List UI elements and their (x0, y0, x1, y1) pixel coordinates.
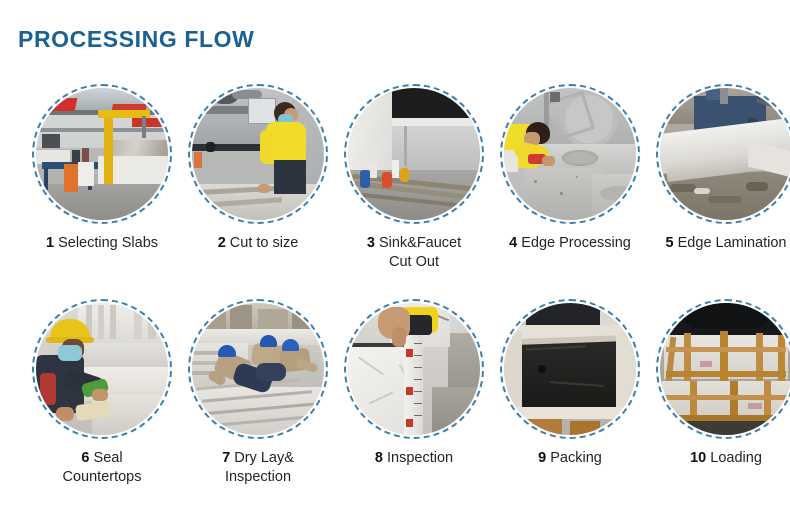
photo-cut-to-size (192, 88, 324, 220)
photo-sink-faucet-cut-out (348, 88, 480, 220)
step-7-label-line2: Inspection (174, 468, 342, 487)
photo-seal-countertops (36, 303, 168, 435)
step-10-label: Loading (710, 450, 762, 466)
step-7-label: Dry Lay& (234, 450, 294, 466)
page-title: PROCESSING FLOW (18, 26, 254, 53)
step-9-label: Packing (550, 450, 602, 466)
process-step-1[interactable]: 1 Selecting Slabs (24, 84, 180, 272)
step-6-number: 6 (81, 450, 89, 466)
step-3-number: 3 (367, 235, 375, 251)
process-step-8[interactable]: 8 Inspection (336, 299, 492, 487)
step-9-number: 9 (538, 450, 546, 466)
step-9-circle[interactable] (500, 299, 640, 439)
step-5-number: 5 (666, 235, 674, 251)
process-step-2[interactable]: 2 Cut to size (180, 84, 336, 272)
step-6-circle[interactable] (32, 299, 172, 439)
process-row-1: 1 Selecting Slabs (0, 84, 790, 272)
process-step-5[interactable]: 5 Edge Lamination (648, 84, 790, 272)
step-1-number: 1 (46, 235, 54, 251)
process-step-10[interactable]: 10 Loading (648, 299, 790, 487)
photo-packing (504, 303, 636, 435)
step-4-circle[interactable] (500, 84, 640, 224)
step-10-caption: 10 Loading (642, 449, 790, 468)
step-7-circle[interactable] (188, 299, 328, 439)
step-1-label: Selecting Slabs (58, 235, 158, 251)
process-step-7[interactable]: 7 Dry Lay& Inspection (180, 299, 336, 487)
step-4-label: Edge Processing (521, 235, 631, 251)
step-5-label: Edge Lamination (678, 235, 787, 251)
step-3-caption: 3 3 Sink&Faucet Sink&Faucet Cut Out (330, 234, 498, 272)
step-10-number: 10 (690, 450, 706, 466)
photo-dry-lay-inspection (192, 303, 324, 435)
step-10-circle[interactable] (656, 299, 790, 439)
process-step-6[interactable]: 6 Seal Countertops (24, 299, 180, 487)
photo-selecting-slabs (36, 88, 168, 220)
step-2-label: Cut to size (230, 235, 299, 251)
process-step-4[interactable]: 4 Edge Processing (492, 84, 648, 272)
step-4-number: 4 (509, 235, 517, 251)
step-6-label-line2: Countertops (18, 468, 186, 487)
step-8-circle[interactable] (344, 299, 484, 439)
step-3-circle[interactable] (344, 84, 484, 224)
step-3-label-line2: Cut Out (330, 253, 498, 272)
step-2-number: 2 (218, 235, 226, 251)
step-3-label: Sink&Faucet (379, 235, 461, 251)
photo-edge-processing (504, 88, 636, 220)
processing-flow-page: PROCESSING FLOW 1 S (0, 0, 790, 520)
photo-edge-lamination (660, 88, 790, 220)
step-6-label: Seal (94, 450, 123, 466)
step-8-label: Inspection (387, 450, 453, 466)
photo-inspection (348, 303, 480, 435)
step-2-caption: 2 Cut to size (174, 234, 342, 253)
step-4-caption: 4 Edge Processing (486, 234, 654, 253)
step-7-number: 7 (222, 450, 230, 466)
step-1-circle[interactable] (32, 84, 172, 224)
step-7-caption: 7 Dry Lay& Inspection (174, 449, 342, 487)
step-8-caption: 8 Inspection (330, 449, 498, 468)
process-step-3[interactable]: 3 3 Sink&Faucet Sink&Faucet Cut Out (336, 84, 492, 272)
step-9-caption: 9 Packing (486, 449, 654, 468)
process-step-9[interactable]: 9 Packing (492, 299, 648, 487)
step-1-caption: 1 Selecting Slabs (18, 234, 186, 253)
step-8-number: 8 (375, 450, 383, 466)
step-2-circle[interactable] (188, 84, 328, 224)
step-5-caption: 5 Edge Lamination (642, 234, 790, 253)
step-6-caption: 6 Seal Countertops (18, 449, 186, 487)
photo-loading (660, 303, 790, 435)
process-row-2: 6 Seal Countertops (0, 299, 790, 487)
step-5-circle[interactable] (656, 84, 790, 224)
